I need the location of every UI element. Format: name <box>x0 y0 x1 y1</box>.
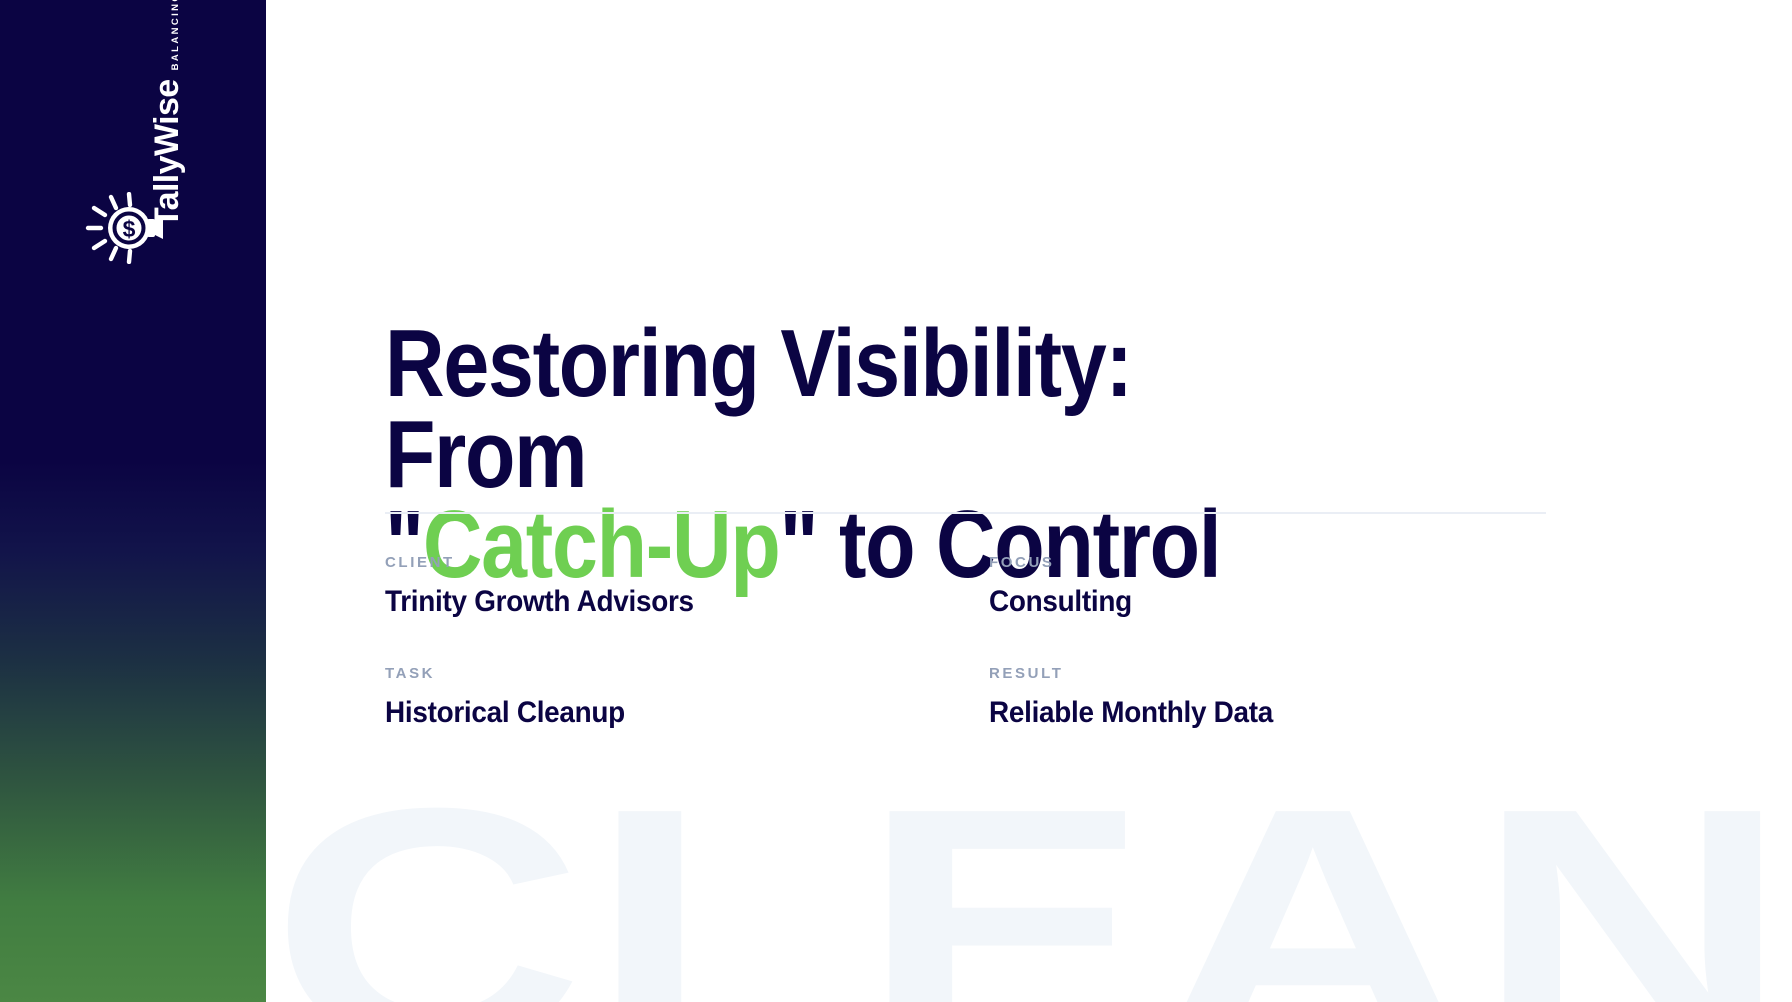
brand-tagline: BALANCING SUCCESS <box>171 0 185 70</box>
title-line-1: Restoring Visibility: From <box>385 310 1132 507</box>
meta-label: FOCUS <box>989 555 1546 570</box>
meta-label: RESULT <box>989 666 1546 681</box>
brand-lockup: TallyWise BALANCING SUCCESS <box>0 0 266 300</box>
meta-value: Trinity Growth Advisors <box>385 586 947 618</box>
brand-sidebar: TallyWise BALANCING SUCCESS <box>0 0 266 1002</box>
meta-label: TASK <box>385 666 989 681</box>
meta-label: CLIENT <box>385 555 989 570</box>
meta-value: Consulting <box>989 586 1507 618</box>
meta-item-result: RESULT Reliable Monthly Data <box>989 666 1546 777</box>
lightbulb-dollar-icon: $ <box>84 192 168 264</box>
background-watermark: CLEAN <box>270 758 1792 1002</box>
case-meta-grid: CLIENT Trinity Growth Advisors FOCUS Con… <box>385 555 1546 777</box>
slide-content: CLEAN Restoring Visibility: From "Catch-… <box>266 0 1792 1002</box>
meta-item-client: CLIENT Trinity Growth Advisors <box>385 555 989 666</box>
meta-item-task: TASK Historical Cleanup <box>385 666 989 777</box>
svg-text:$: $ <box>123 216 136 242</box>
case-study-slide: TallyWise BALANCING SUCCESS <box>0 0 1792 1002</box>
meta-item-focus: FOCUS Consulting <box>989 555 1546 666</box>
divider <box>385 512 1546 514</box>
meta-value: Historical Cleanup <box>385 697 947 729</box>
meta-value: Reliable Monthly Data <box>989 697 1507 729</box>
page-title: Restoring Visibility: From "Catch-Up" to… <box>385 319 1254 590</box>
